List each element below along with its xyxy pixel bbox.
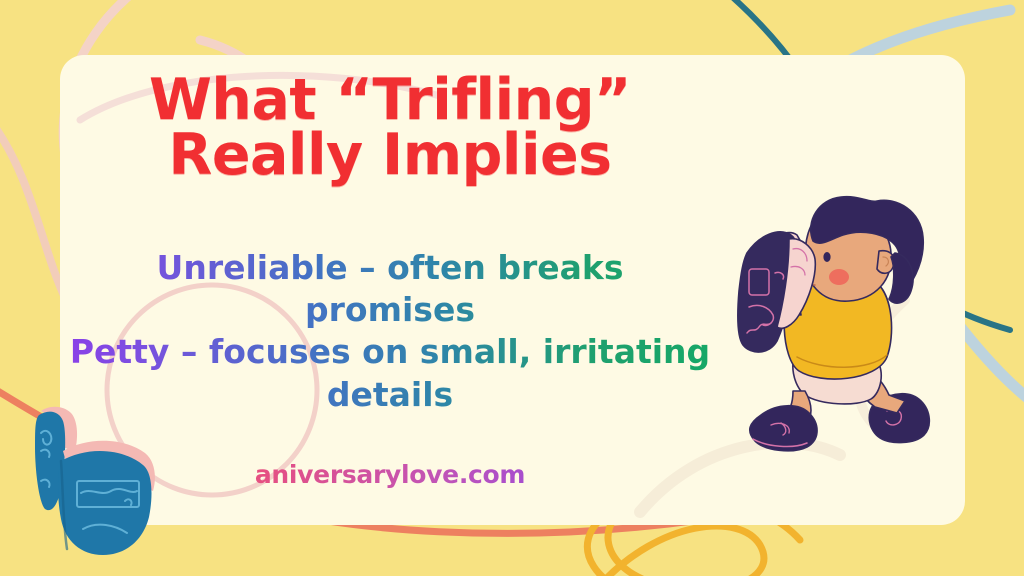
body-line-1: Unreliable – often breaks: [60, 247, 720, 289]
open-book-illustration: [5, 395, 190, 570]
boy-reading-magazine-illustration: [735, 195, 950, 460]
book-cover-right: [58, 451, 151, 555]
eye: [823, 252, 830, 262]
page-title: What “Trifling” Really Implies: [60, 73, 720, 184]
poster-canvas: What “Trifling” Really Implies Unreliabl…: [0, 0, 1024, 576]
front-shoe: [750, 406, 817, 451]
cheek-blush: [829, 269, 849, 285]
title-line-2: Really Implies: [168, 122, 611, 188]
body-line-3: Petty – focuses on small, irritating: [60, 331, 720, 373]
body-line-2: promises: [60, 289, 720, 331]
body-text-block: Unreliable – often breaks promises Petty…: [60, 247, 720, 416]
ear: [877, 251, 894, 274]
